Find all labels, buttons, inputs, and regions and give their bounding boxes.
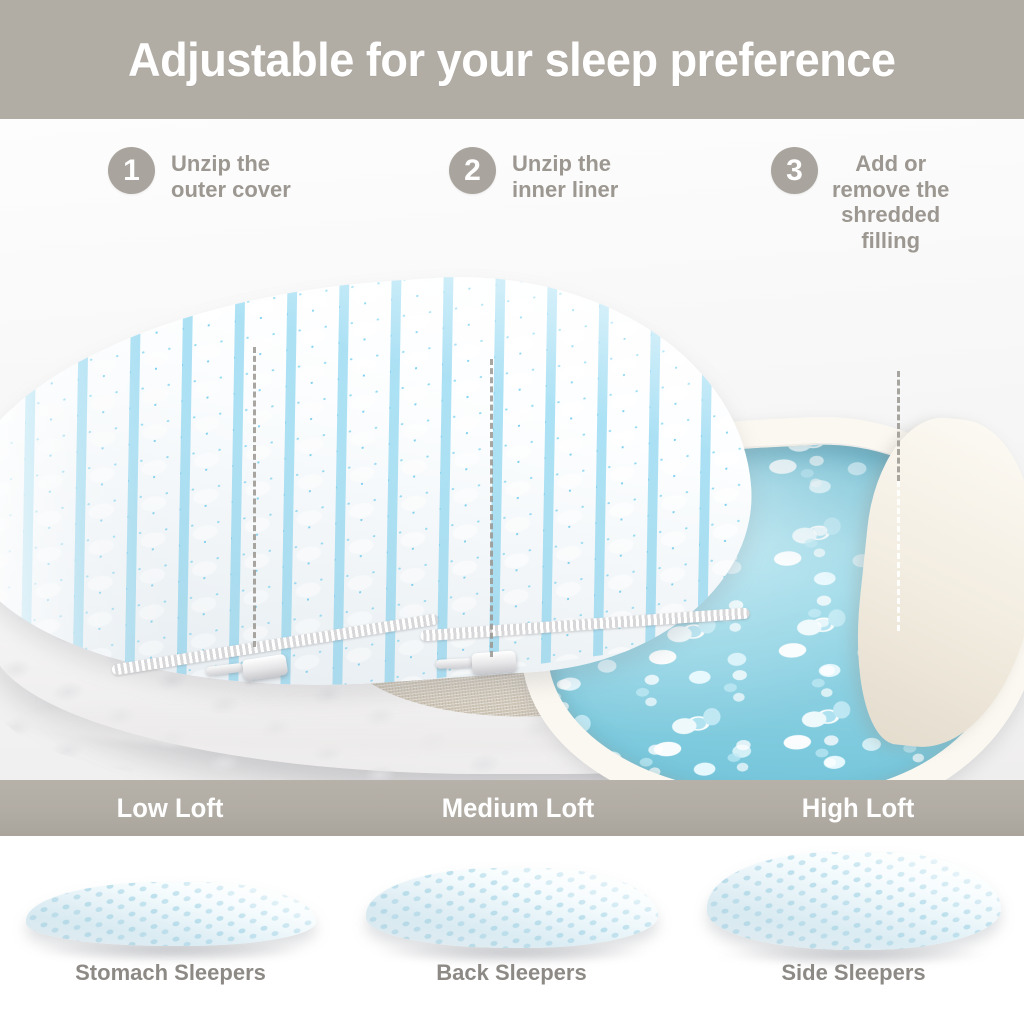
loft-cell-low: Stomach Sleepers [0, 836, 341, 1017]
step-label-3: Add or remove the shredded filling [832, 147, 949, 254]
sleeper-label-stomach: Stomach Sleepers [0, 960, 341, 986]
loft-pillow-high-wrap [683, 842, 1024, 954]
leader-line-step-1 [253, 347, 256, 647]
step-callout-3: 3 Add or remove the shredded filling [771, 147, 949, 254]
loft-cell-medium: Back Sleepers [341, 836, 682, 1017]
step-number-badge-3: 3 [771, 147, 818, 194]
header-band: Adjustable for your sleep preference [0, 0, 1024, 119]
loft-band: Low Loft Medium Loft High Loft [0, 780, 1024, 836]
pillow-infographic: { "header": { "title": "Adjustable for y… [0, 0, 1024, 1017]
loft-pillow-low-wrap [0, 842, 341, 954]
step-label-1: Unzip the outer cover [171, 147, 291, 202]
loft-comparison-row: Stomach Sleepers Back Sleepers Side Slee… [0, 836, 1024, 1017]
loft-label-high: High Loft [735, 780, 982, 836]
loft-pillow-low-sheen [26, 882, 316, 946]
step-number-badge-1: 1 [108, 147, 155, 194]
loft-label-medium: Medium Loft [395, 780, 642, 836]
loft-pillow-medium [366, 868, 658, 948]
leader-line-step-3 [897, 371, 900, 481]
loft-pillow-medium-sheen [366, 868, 658, 948]
loft-pillow-high-sheen [707, 852, 1001, 950]
leader-line-step-3-over-foam [897, 481, 900, 631]
loft-cell-high: Side Sleepers [683, 836, 1024, 1017]
leader-line-step-2 [490, 359, 493, 657]
step-callout-1: 1 Unzip the outer cover [108, 147, 291, 202]
step-callout-2: 2 Unzip the inner liner [449, 147, 618, 202]
loft-label-low: Low Loft [47, 780, 294, 836]
loft-pillow-medium-wrap [341, 842, 682, 954]
sleeper-label-side: Side Sleepers [683, 960, 1024, 986]
outer-cover-left-fade [0, 298, 174, 711]
inner-zipper-pull [471, 650, 516, 674]
loft-pillow-low [26, 882, 316, 946]
sleeper-label-back: Back Sleepers [341, 960, 682, 986]
loft-pillow-high [707, 852, 1001, 950]
step-number-badge-2: 2 [449, 147, 496, 194]
step-label-2: Unzip the inner liner [512, 147, 618, 202]
inner-zipper-tab [436, 658, 472, 669]
page-title: Adjustable for your sleep preference [128, 32, 896, 87]
outer-cover-honeycomb [0, 257, 763, 711]
